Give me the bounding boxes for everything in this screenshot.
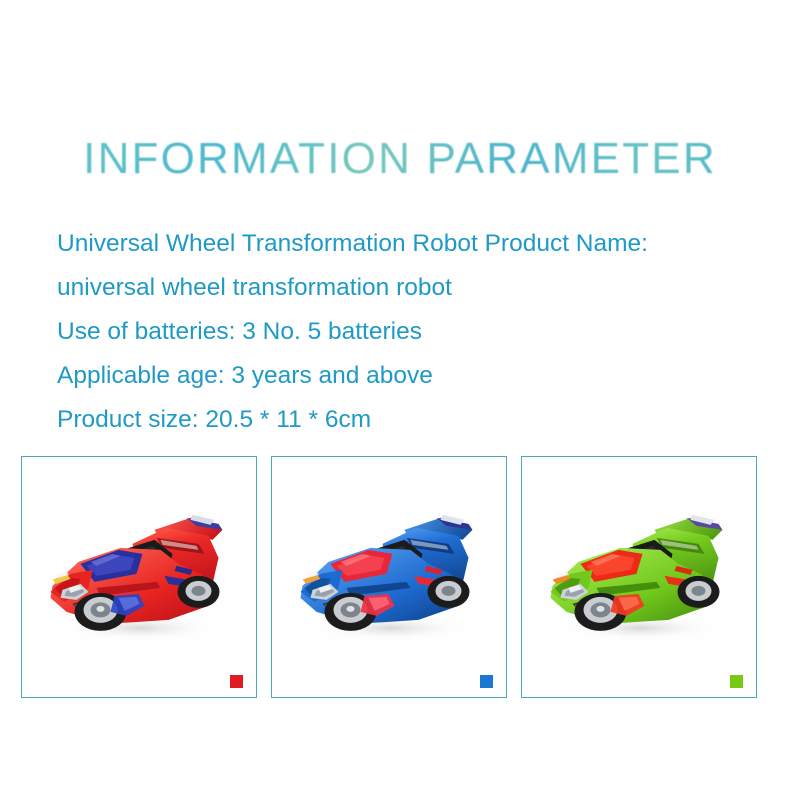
product-photo-card-red[interactable] (21, 456, 257, 698)
spec-line-product-name-cont: universal wheel transformation robot (57, 266, 757, 310)
page-title: INFORMATION PARAMETER (83, 132, 717, 186)
product-photo-card-green[interactable] (521, 456, 757, 698)
toy-car-image-blue (287, 488, 492, 653)
color-swatch-green[interactable] (730, 675, 743, 688)
color-swatch-red[interactable] (230, 675, 243, 688)
toy-car-image-green (537, 488, 742, 653)
spec-line-size: Product size: 20.5 * 11 * 6cm (57, 398, 757, 442)
page-title-block: INFORMATION PARAMETER (0, 132, 800, 186)
spec-line-batteries: Use of batteries: 3 No. 5 batteries (57, 310, 757, 354)
photo-stage-green (522, 457, 756, 697)
spec-line-age: Applicable age: 3 years and above (57, 354, 757, 398)
product-gallery (21, 456, 757, 698)
product-photo-card-blue[interactable] (271, 456, 507, 698)
toy-car-image-red (37, 488, 242, 653)
photo-stage-blue (272, 457, 506, 697)
spec-line-product-name: Universal Wheel Transformation Robot Pro… (57, 222, 757, 266)
product-spec-list: Universal Wheel Transformation Robot Pro… (57, 222, 757, 442)
photo-stage-red (22, 457, 256, 697)
color-swatch-blue[interactable] (480, 675, 493, 688)
